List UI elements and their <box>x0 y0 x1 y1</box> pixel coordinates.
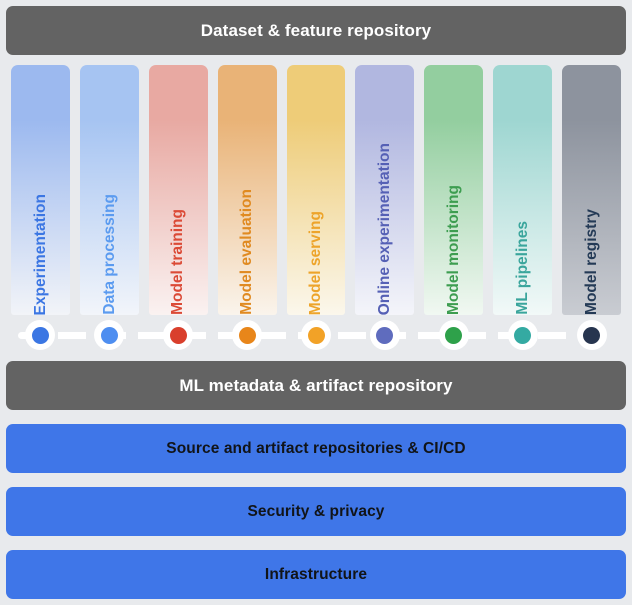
pillar-label-experimentation: Experimentation <box>33 192 49 315</box>
pillar-label-ml-pipelines: ML pipelines <box>515 219 531 315</box>
node-ml-pipelines[interactable] <box>493 320 552 350</box>
node-ring <box>301 320 331 350</box>
pillar-experimentation[interactable]: Experimentation <box>11 65 70 315</box>
stage-dot-icon <box>239 327 256 344</box>
node-ring <box>232 320 262 350</box>
node-model-monitoring[interactable] <box>424 320 483 350</box>
pillar-label-model-serving: Model serving <box>308 209 324 315</box>
node-ring <box>25 320 55 350</box>
stage-dot-icon <box>445 327 462 344</box>
stage-dot-icon <box>514 327 531 344</box>
pillar-label-model-monitoring: Model monitoring <box>446 183 462 315</box>
dataset-feature-repository-bar: Dataset & feature repository <box>6 6 626 55</box>
node-ring <box>370 320 400 350</box>
mlops-architecture-diagram: Dataset & feature repository Experimenta… <box>0 0 632 605</box>
pillar-model-monitoring[interactable]: Model monitoring <box>424 65 483 315</box>
stage-dot-icon <box>583 327 600 344</box>
stage-dot-icon <box>32 327 49 344</box>
stage-dot-icon <box>170 327 187 344</box>
pipeline-connector-rail <box>6 315 626 355</box>
pillar-model-registry[interactable]: Model registry <box>562 65 621 315</box>
node-model-serving[interactable] <box>287 320 346 350</box>
node-model-registry[interactable] <box>562 320 621 350</box>
stage-dot-icon <box>376 327 393 344</box>
infrastructure-label: Infrastructure <box>265 566 367 584</box>
foundation-layers: Source and artifact repositories & CI/CD… <box>6 424 626 599</box>
pillar-model-serving[interactable]: Model serving <box>287 65 346 315</box>
stage-dot-icon <box>308 327 325 344</box>
security-privacy-bar: Security & privacy <box>6 487 626 536</box>
node-ring <box>439 320 469 350</box>
pillar-ml-pipelines[interactable]: ML pipelines <box>493 65 552 315</box>
pillar-model-training[interactable]: Model training <box>149 65 208 315</box>
node-ring <box>94 320 124 350</box>
node-model-training[interactable] <box>149 320 208 350</box>
pillar-label-model-training: Model training <box>170 207 186 315</box>
pillar-online-experimentation[interactable]: Online experimentation <box>355 65 414 315</box>
node-data-processing[interactable] <box>80 320 139 350</box>
security-privacy-label: Security & privacy <box>247 503 384 521</box>
ml-metadata-artifact-repository-label: ML metadata & artifact repository <box>179 376 452 396</box>
source-artifact-repositories-cicd-bar: Source and artifact repositories & CI/CD <box>6 424 626 473</box>
node-ring <box>163 320 193 350</box>
ml-metadata-artifact-repository-bar: ML metadata & artifact repository <box>6 361 626 410</box>
pillar-label-data-processing: Data processing <box>102 192 118 315</box>
pillar-model-evaluation[interactable]: Model evaluation <box>218 65 277 315</box>
pillar-label-model-registry: Model registry <box>584 207 600 315</box>
node-experimentation[interactable] <box>11 320 70 350</box>
node-ring <box>508 320 538 350</box>
stage-dot-icon <box>101 327 118 344</box>
node-model-evaluation[interactable] <box>218 320 277 350</box>
infrastructure-bar: Infrastructure <box>6 550 626 599</box>
capability-pillars: Experimentation Data processing Model tr… <box>6 65 626 315</box>
pillar-label-online-experimentation: Online experimentation <box>377 141 393 315</box>
pillar-label-model-evaluation: Model evaluation <box>239 187 255 315</box>
dataset-feature-repository-label: Dataset & feature repository <box>201 21 431 41</box>
node-ring <box>577 320 607 350</box>
pillar-data-processing[interactable]: Data processing <box>80 65 139 315</box>
source-artifact-repositories-cicd-label: Source and artifact repositories & CI/CD <box>166 440 465 458</box>
node-online-experimentation[interactable] <box>355 320 414 350</box>
